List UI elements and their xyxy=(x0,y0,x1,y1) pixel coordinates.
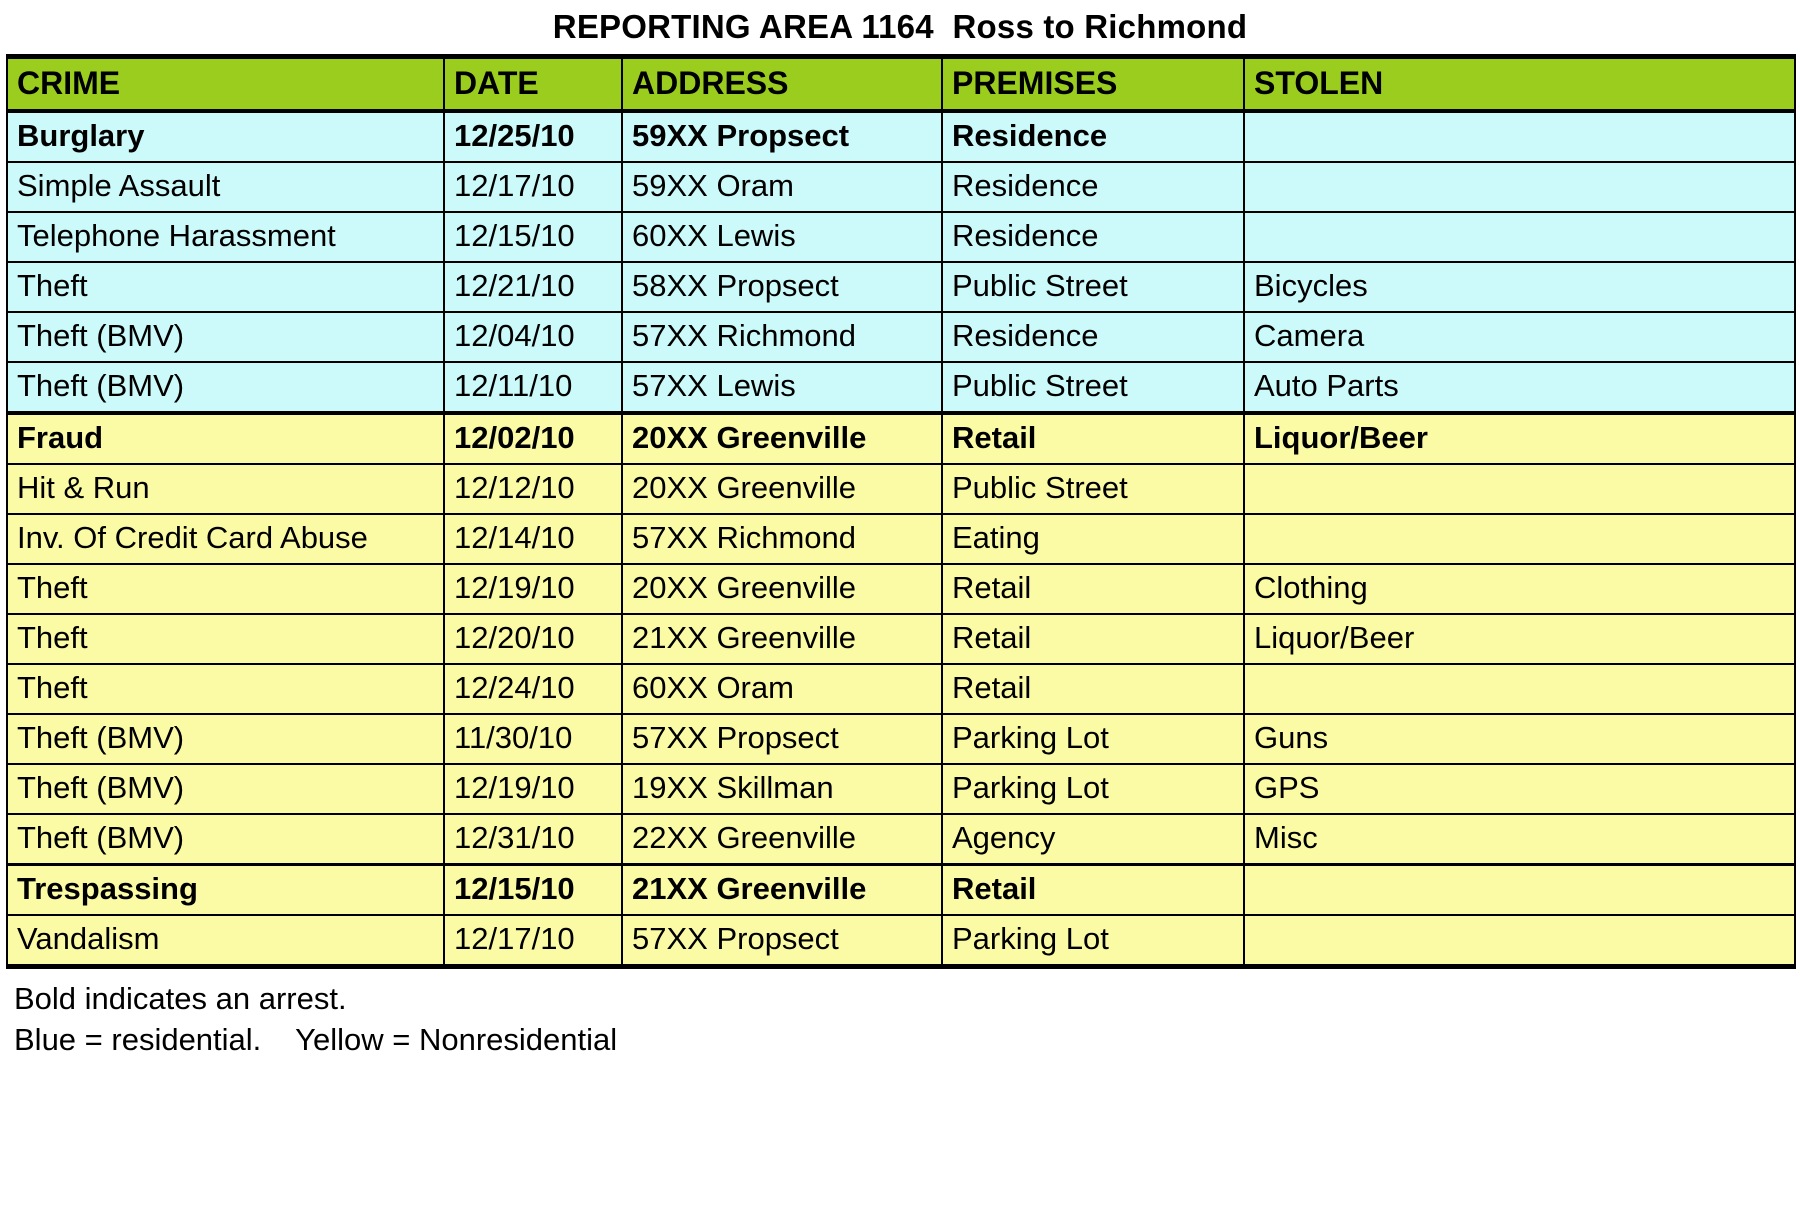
crime-table: CRIME DATE ADDRESS PREMISES STOLEN Burgl… xyxy=(6,54,1796,969)
cell-stolen: Liquor/Beer xyxy=(1244,614,1795,664)
cell-crime: Theft xyxy=(7,614,444,664)
cell-address: 22XX Greenville xyxy=(622,814,942,865)
cell-stolen xyxy=(1244,664,1795,714)
column-header-premises: PREMISES xyxy=(942,56,1244,111)
table-row: Vandalism12/17/1057XX PropsectParking Lo… xyxy=(7,915,1795,967)
cell-address: 59XX Oram xyxy=(622,162,942,212)
cell-premises: Eating xyxy=(942,514,1244,564)
cell-address: 21XX Greenville xyxy=(622,614,942,664)
cell-stolen: GPS xyxy=(1244,764,1795,814)
cell-premises: Residence xyxy=(942,111,1244,162)
cell-stolen: Auto Parts xyxy=(1244,362,1795,413)
page-title: REPORTING AREA 1164 Ross to Richmond xyxy=(6,0,1794,54)
cell-date: 12/15/10 xyxy=(444,212,622,262)
crime-report-page: REPORTING AREA 1164 Ross to Richmond CRI… xyxy=(0,0,1800,1225)
cell-date: 12/14/10 xyxy=(444,514,622,564)
cell-date: 12/04/10 xyxy=(444,312,622,362)
cell-premises: Retail xyxy=(942,413,1244,464)
cell-crime: Theft (BMV) xyxy=(7,714,444,764)
cell-date: 12/25/10 xyxy=(444,111,622,162)
cell-date: 12/20/10 xyxy=(444,614,622,664)
table-row: Trespassing12/15/1021XX GreenvilleRetail xyxy=(7,864,1795,915)
cell-crime: Inv. Of Credit Card Abuse xyxy=(7,514,444,564)
cell-crime: Burglary xyxy=(7,111,444,162)
cell-address: 20XX Greenville xyxy=(622,564,942,614)
cell-crime: Theft xyxy=(7,564,444,614)
table-row: Inv. Of Credit Card Abuse12/14/1057XX Ri… xyxy=(7,514,1795,564)
cell-premises: Retail xyxy=(942,864,1244,915)
cell-premises: Agency xyxy=(942,814,1244,865)
cell-stolen xyxy=(1244,464,1795,514)
cell-crime: Vandalism xyxy=(7,915,444,967)
cell-date: 12/12/10 xyxy=(444,464,622,514)
cell-premises: Parking Lot xyxy=(942,714,1244,764)
table-row: Theft (BMV)11/30/1057XX PropsectParking … xyxy=(7,714,1795,764)
table-row: Theft12/19/1020XX GreenvilleRetailClothi… xyxy=(7,564,1795,614)
cell-stolen xyxy=(1244,111,1795,162)
cell-stolen xyxy=(1244,915,1795,967)
column-header-stolen: STOLEN xyxy=(1244,56,1795,111)
cell-premises: Public Street xyxy=(942,362,1244,413)
cell-premises: Public Street xyxy=(942,262,1244,312)
cell-crime: Simple Assault xyxy=(7,162,444,212)
footnote-arrest-legend: Bold indicates an arrest. xyxy=(14,979,1794,1020)
cell-address: 57XX Richmond xyxy=(622,514,942,564)
cell-address: 59XX Propsect xyxy=(622,111,942,162)
cell-date: 12/17/10 xyxy=(444,915,622,967)
cell-premises: Residence xyxy=(942,162,1244,212)
cell-crime: Theft (BMV) xyxy=(7,362,444,413)
cell-premises: Retail xyxy=(942,664,1244,714)
cell-address: 20XX Greenville xyxy=(622,464,942,514)
cell-date: 12/24/10 xyxy=(444,664,622,714)
cell-premises: Retail xyxy=(942,564,1244,614)
cell-crime: Telephone Harassment xyxy=(7,212,444,262)
cell-stolen xyxy=(1244,162,1795,212)
cell-crime: Theft (BMV) xyxy=(7,312,444,362)
cell-address: 57XX Richmond xyxy=(622,312,942,362)
column-header-crime: CRIME xyxy=(7,56,444,111)
cell-premises: Public Street xyxy=(942,464,1244,514)
cell-stolen xyxy=(1244,514,1795,564)
cell-stolen: Bicycles xyxy=(1244,262,1795,312)
cell-date: 12/19/10 xyxy=(444,564,622,614)
cell-date: 12/11/10 xyxy=(444,362,622,413)
cell-stolen: Camera xyxy=(1244,312,1795,362)
cell-premises: Parking Lot xyxy=(942,915,1244,967)
column-header-address: ADDRESS xyxy=(622,56,942,111)
cell-stolen: Clothing xyxy=(1244,564,1795,614)
cell-stolen xyxy=(1244,212,1795,262)
table-row: Theft (BMV)12/31/1022XX GreenvilleAgency… xyxy=(7,814,1795,865)
table-row: Hit & Run12/12/1020XX GreenvillePublic S… xyxy=(7,464,1795,514)
cell-premises: Residence xyxy=(942,312,1244,362)
table-body: Burglary12/25/1059XX PropsectResidenceSi… xyxy=(7,111,1795,967)
cell-premises: Retail xyxy=(942,614,1244,664)
table-row: Theft12/24/1060XX OramRetail xyxy=(7,664,1795,714)
cell-address: 57XX Lewis xyxy=(622,362,942,413)
cell-crime: Trespassing xyxy=(7,864,444,915)
table-header-row: CRIME DATE ADDRESS PREMISES STOLEN xyxy=(7,56,1795,111)
cell-date: 12/02/10 xyxy=(444,413,622,464)
cell-premises: Parking Lot xyxy=(942,764,1244,814)
cell-stolen: Guns xyxy=(1244,714,1795,764)
cell-stolen: Liquor/Beer xyxy=(1244,413,1795,464)
cell-stolen xyxy=(1244,864,1795,915)
cell-date: 12/31/10 xyxy=(444,814,622,865)
cell-date: 12/19/10 xyxy=(444,764,622,814)
footnote-color-legend: Blue = residential. Yellow = Nonresident… xyxy=(14,1020,1794,1061)
footnotes: Bold indicates an arrest. Blue = residen… xyxy=(6,969,1794,1061)
cell-crime: Fraud xyxy=(7,413,444,464)
cell-address: 57XX Propsect xyxy=(622,915,942,967)
table-row: Burglary12/25/1059XX PropsectResidence xyxy=(7,111,1795,162)
table-row: Theft12/21/1058XX PropsectPublic StreetB… xyxy=(7,262,1795,312)
table-row: Simple Assault12/17/1059XX OramResidence xyxy=(7,162,1795,212)
cell-crime: Theft (BMV) xyxy=(7,814,444,865)
cell-address: 60XX Lewis xyxy=(622,212,942,262)
cell-date: 12/15/10 xyxy=(444,864,622,915)
table-row: Telephone Harassment12/15/1060XX LewisRe… xyxy=(7,212,1795,262)
cell-address: 19XX Skillman xyxy=(622,764,942,814)
cell-address: 58XX Propsect xyxy=(622,262,942,312)
cell-crime: Theft (BMV) xyxy=(7,764,444,814)
cell-address: 57XX Propsect xyxy=(622,714,942,764)
cell-address: 20XX Greenville xyxy=(622,413,942,464)
cell-stolen: Misc xyxy=(1244,814,1795,865)
table-row: Theft (BMV)12/04/1057XX RichmondResidenc… xyxy=(7,312,1795,362)
cell-crime: Theft xyxy=(7,262,444,312)
column-header-date: DATE xyxy=(444,56,622,111)
cell-address: 21XX Greenville xyxy=(622,864,942,915)
cell-crime: Theft xyxy=(7,664,444,714)
cell-date: 12/21/10 xyxy=(444,262,622,312)
table-row: Theft (BMV)12/11/1057XX LewisPublic Stre… xyxy=(7,362,1795,413)
table-row: Theft12/20/1021XX GreenvilleRetailLiquor… xyxy=(7,614,1795,664)
table-header: CRIME DATE ADDRESS PREMISES STOLEN xyxy=(7,56,1795,111)
cell-premises: Residence xyxy=(942,212,1244,262)
table-row: Fraud12/02/1020XX GreenvilleRetailLiquor… xyxy=(7,413,1795,464)
table-row: Theft (BMV)12/19/1019XX SkillmanParking … xyxy=(7,764,1795,814)
cell-date: 12/17/10 xyxy=(444,162,622,212)
cell-crime: Hit & Run xyxy=(7,464,444,514)
cell-date: 11/30/10 xyxy=(444,714,622,764)
cell-address: 60XX Oram xyxy=(622,664,942,714)
